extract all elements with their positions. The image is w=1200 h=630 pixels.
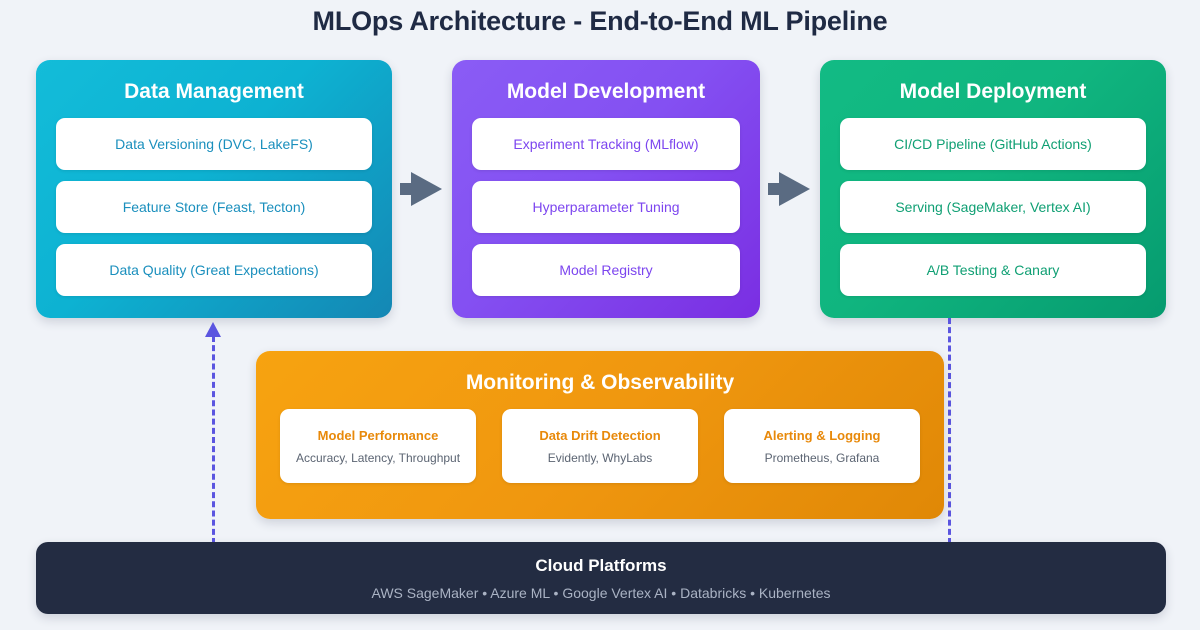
stage-item[interactable]: Hyperparameter Tuning [472, 181, 740, 233]
stage-item[interactable]: CI/CD Pipeline (GitHub Actions) [840, 118, 1146, 170]
arrow-right-icon [400, 172, 444, 206]
monitor-card-title: Model Performance [318, 428, 439, 443]
stage-item[interactable]: Data Quality (Great Expectations) [56, 244, 372, 296]
monitor-card[interactable]: Alerting & Logging Prometheus, Grafana [724, 409, 920, 483]
monitor-card-title: Data Drift Detection [539, 428, 660, 443]
monitoring-card-list: Model Performance Accuracy, Latency, Thr… [256, 409, 944, 483]
stage-item-list: CI/CD Pipeline (GitHub Actions) Serving … [820, 118, 1166, 296]
monitor-card-subtitle: Accuracy, Latency, Throughput [296, 451, 460, 465]
stage-item[interactable]: Model Registry [472, 244, 740, 296]
monitor-card-title: Alerting & Logging [764, 428, 881, 443]
monitor-card-subtitle: Prometheus, Grafana [765, 451, 880, 465]
stage-item-list: Data Versioning (DVC, LakeFS) Feature St… [36, 118, 392, 296]
stage-item[interactable]: Experiment Tracking (MLflow) [472, 118, 740, 170]
page-title: MLOps Architecture - End-to-End ML Pipel… [0, 6, 1200, 37]
stage-card-model-deployment: Model Deployment CI/CD Pipeline (GitHub … [820, 60, 1166, 318]
monitoring-card: Monitoring & Observability Model Perform… [256, 351, 944, 519]
monitoring-title: Monitoring & Observability [256, 371, 944, 395]
stage-item[interactable]: Serving (SageMaker, Vertex AI) [840, 181, 1146, 233]
footer-subtitle: AWS SageMaker • Azure ML • Google Vertex… [36, 585, 1166, 601]
arrow-head [779, 172, 810, 206]
arrow-head [411, 172, 442, 206]
arrow-right-icon [768, 172, 812, 206]
footer-title: Cloud Platforms [36, 556, 1166, 576]
stage-title: Model Deployment [820, 80, 1166, 104]
monitor-card[interactable]: Data Drift Detection Evidently, WhyLabs [502, 409, 698, 483]
stage-card-data-management: Data Management Data Versioning (DVC, La… [36, 60, 392, 318]
stage-item[interactable]: A/B Testing & Canary [840, 244, 1146, 296]
monitor-card-subtitle: Evidently, WhyLabs [548, 451, 653, 465]
stage-title: Model Development [452, 80, 760, 104]
feedback-arrow-up-icon [205, 322, 221, 337]
stage-card-model-development: Model Development Experiment Tracking (M… [452, 60, 760, 318]
feedback-line-left [212, 336, 215, 544]
stage-title: Data Management [36, 80, 392, 104]
stage-item-list: Experiment Tracking (MLflow) Hyperparame… [452, 118, 760, 296]
monitor-card[interactable]: Model Performance Accuracy, Latency, Thr… [280, 409, 476, 483]
stage-item[interactable]: Feature Store (Feast, Tecton) [56, 181, 372, 233]
footer-card-cloud-platforms: Cloud Platforms AWS SageMaker • Azure ML… [36, 542, 1166, 614]
feedback-line-right [948, 318, 951, 544]
stage-item[interactable]: Data Versioning (DVC, LakeFS) [56, 118, 372, 170]
